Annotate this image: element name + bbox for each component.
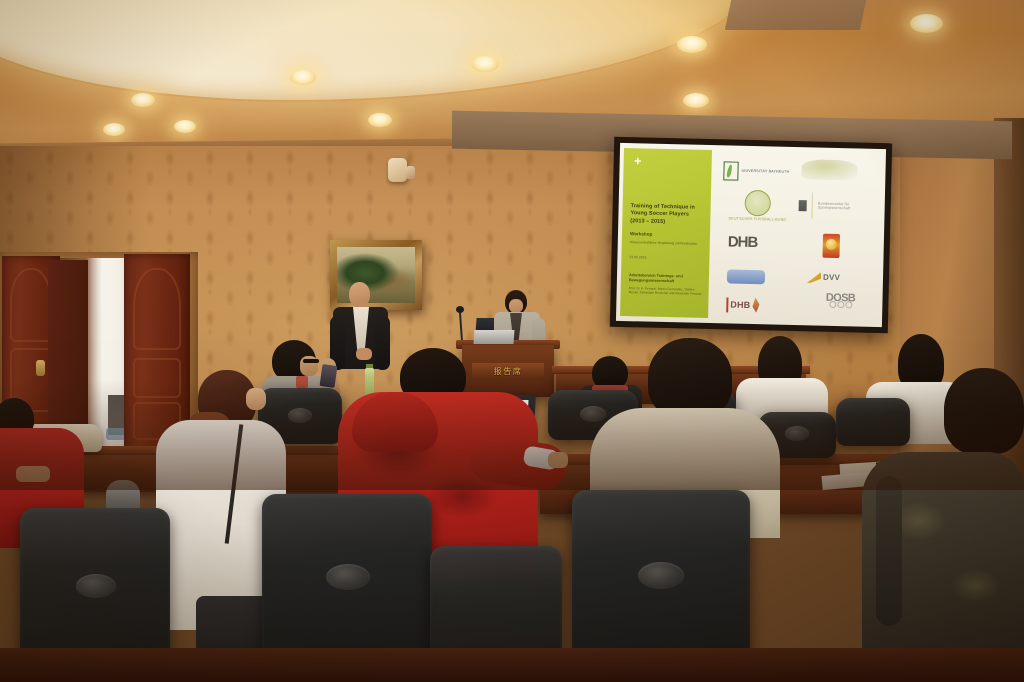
chair-medallion bbox=[638, 562, 684, 589]
ceiling-light bbox=[910, 14, 943, 33]
dosb-logo: DOSB bbox=[812, 295, 869, 318]
universitaet-bayreuth-logo: UNIVERSITÄT BAYREUTH bbox=[723, 159, 790, 183]
dfb-logo: DEUTSCHER FUSSBALL-BUND bbox=[726, 189, 789, 224]
ceiling-vent bbox=[725, 0, 866, 30]
ceiling-light bbox=[471, 56, 499, 72]
projection-screen: + Training of Technique in Young Soccer … bbox=[616, 143, 886, 327]
podium-laptop-base bbox=[474, 330, 515, 344]
man-arm-right bbox=[375, 316, 390, 370]
dhb-hockey-logo: DHB bbox=[726, 295, 778, 314]
dvv-logo: DVV bbox=[807, 269, 869, 286]
wall-sensor-icon bbox=[388, 158, 407, 182]
partner-logo bbox=[801, 157, 864, 182]
logo-label: DVV bbox=[823, 276, 840, 281]
ceiling-light bbox=[131, 93, 155, 107]
man-hands bbox=[356, 348, 372, 360]
wall-sensor-bracket bbox=[406, 166, 415, 179]
slide-footer-heading: Arbeitsbereich Trainings- und Bewegungsw… bbox=[629, 273, 703, 285]
ceiling-light bbox=[290, 70, 316, 85]
logo-label: DEUTSCHER FUSSBALL-BUND bbox=[728, 216, 786, 222]
door-handle[interactable] bbox=[36, 360, 45, 376]
ceiling-light bbox=[103, 123, 125, 136]
floor bbox=[0, 648, 1024, 682]
logo-label: Bundesinstitut für Sportwissenschaft bbox=[818, 201, 873, 211]
plus-icon: + bbox=[632, 155, 644, 167]
dtb-medal-logo bbox=[822, 234, 840, 258]
ceiling-light bbox=[683, 93, 709, 108]
dhb-handball-logo: DHB bbox=[728, 233, 758, 251]
ceiling-light bbox=[368, 113, 392, 127]
logo-label: DOSB bbox=[826, 296, 855, 301]
chair-medallion bbox=[76, 574, 116, 598]
lectern-nameplate: 报告席 bbox=[472, 363, 544, 379]
logo-label: DHB bbox=[730, 302, 750, 307]
woman-face bbox=[509, 299, 523, 313]
ceiling-cove-lip bbox=[0, 0, 760, 102]
logo-label: UNIVERSITÄT BAYREUTH bbox=[741, 169, 789, 174]
lower-wall-shadow bbox=[0, 380, 1024, 490]
slide-footer-text: Prof. Dr. A. Ferrauti, Martin Fernandez,… bbox=[629, 286, 703, 297]
bisp-logo: Bundesinstitut für Sportwissenschaft bbox=[798, 191, 873, 221]
glasses-icon bbox=[303, 359, 319, 363]
ceiling-light bbox=[677, 36, 707, 53]
backpack-strap bbox=[876, 476, 902, 626]
chair-medallion bbox=[326, 564, 370, 590]
microphone-icon bbox=[456, 306, 464, 313]
ceiling-light bbox=[174, 120, 196, 133]
conference-room-photo: + Training of Technique in Young Soccer … bbox=[0, 0, 1024, 682]
slide-title: Training of Technique in Young Soccer Pl… bbox=[630, 203, 705, 227]
dsv-logo bbox=[727, 269, 765, 284]
